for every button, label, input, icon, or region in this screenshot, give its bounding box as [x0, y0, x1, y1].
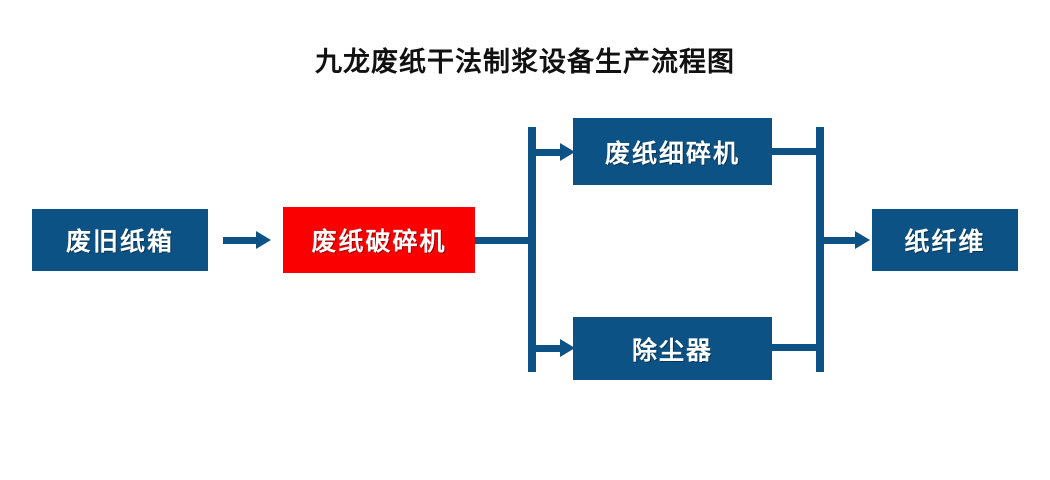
arrow-head — [855, 231, 870, 249]
arrow-shaft — [533, 149, 561, 156]
arrow-shaft — [533, 345, 561, 352]
node-paper-crusher[interactable]: 废纸破碎机 — [283, 207, 475, 273]
flowchart-canvas: 九龙废纸干法制浆设备生产流程图 废旧纸箱 废纸破碎机 废纸细碎机 除尘器 纸纤维 — [0, 0, 1050, 480]
arrow-right-icon-merge-to-paper-fiber — [822, 231, 870, 249]
page-title: 九龙废纸干法制浆设备生产流程图 — [0, 40, 1050, 79]
arrow-right-icon-split-to-dust-collector — [533, 339, 575, 357]
node-paper-fiber[interactable]: 纸纤维 — [872, 209, 1018, 271]
arrow-right-icon-split-to-fine-crusher — [533, 143, 575, 161]
merge-bar-right — [816, 127, 824, 372]
node-waste-carton[interactable]: 废旧纸箱 — [32, 209, 208, 271]
split-bar-left — [528, 127, 536, 372]
arrow-head — [560, 339, 575, 357]
arrow-shaft — [822, 237, 856, 244]
connector-line-crusher-to-split — [475, 237, 531, 244]
node-fine-crusher[interactable]: 废纸细碎机 — [573, 118, 772, 185]
connector-line-dust-collector-to-merge — [770, 344, 822, 351]
arrow-shaft — [223, 237, 257, 244]
arrow-right-icon-carton-to-crusher — [223, 231, 271, 249]
arrow-head — [256, 231, 271, 249]
connector-line-fine-crusher-to-merge — [770, 148, 822, 155]
arrow-head — [560, 143, 575, 161]
node-dust-collector[interactable]: 除尘器 — [573, 317, 772, 380]
